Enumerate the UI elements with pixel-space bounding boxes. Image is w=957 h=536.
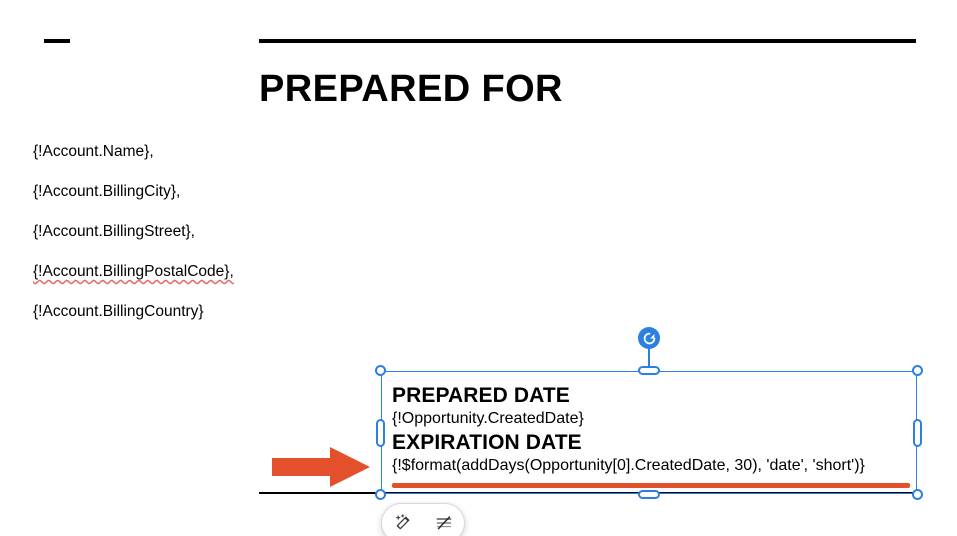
magic-wand-icon (394, 514, 412, 532)
design-ideas-button[interactable] (388, 508, 418, 536)
list-item: {!Account.BillingPostalCode}, (33, 252, 293, 292)
list-item: {!Account.Name}, (33, 132, 293, 172)
no-line-style-icon (435, 514, 453, 532)
selected-textbox[interactable]: PREPARED DATE {!Opportunity.CreatedDate}… (381, 371, 917, 494)
floating-mini-toolbar[interactable] (381, 503, 465, 536)
address-line-billing-street: {!Account.BillingStreet}, (33, 212, 195, 252)
address-line-billing-postal-code: {!Account.BillingPostalCode}, (33, 252, 234, 292)
page-title: PREPARED FOR (259, 66, 563, 112)
orange-emphasis-underline (392, 483, 910, 488)
orange-pointer-arrow (272, 447, 370, 487)
expiration-date-formula-value: {!$format(addDays(Opportunity[0].Created… (392, 455, 909, 477)
bottom-left-handle[interactable] (375, 489, 386, 500)
list-item: {!Account.BillingCountry} (33, 292, 293, 332)
prepared-date-value: {!Opportunity.CreatedDate} (392, 408, 909, 430)
top-right-handle[interactable] (912, 365, 923, 376)
top-center-handle[interactable] (638, 366, 660, 375)
bottom-center-handle[interactable] (638, 490, 660, 499)
list-item: {!Account.BillingCity}, (33, 172, 293, 212)
list-item: {!Account.BillingStreet}, (33, 212, 293, 252)
corner-dash-mark (44, 39, 70, 43)
address-merge-field-block[interactable]: {!Account.Name}, {!Account.BillingCity},… (33, 132, 293, 332)
rotate-handle[interactable] (638, 327, 660, 349)
header-divider-rule (259, 39, 916, 43)
line-style-button[interactable] (429, 508, 459, 536)
rotate-icon (643, 332, 656, 345)
bottom-right-handle[interactable] (912, 489, 923, 500)
middle-left-handle[interactable] (376, 419, 385, 447)
expiration-date-heading: EXPIRATION DATE (392, 430, 909, 455)
top-left-handle[interactable] (375, 365, 386, 376)
prepared-date-heading: PREPARED DATE (392, 383, 909, 408)
middle-right-handle[interactable] (913, 419, 922, 447)
textbox-content[interactable]: PREPARED DATE {!Opportunity.CreatedDate}… (392, 383, 909, 477)
address-line-billing-city: {!Account.BillingCity}, (33, 172, 180, 212)
address-line-billing-country: {!Account.BillingCountry} (33, 292, 204, 332)
address-line-account-name: {!Account.Name}, (33, 132, 154, 172)
slide-canvas[interactable]: PREPARED FOR {!Account.Name}, {!Account.… (0, 0, 957, 536)
